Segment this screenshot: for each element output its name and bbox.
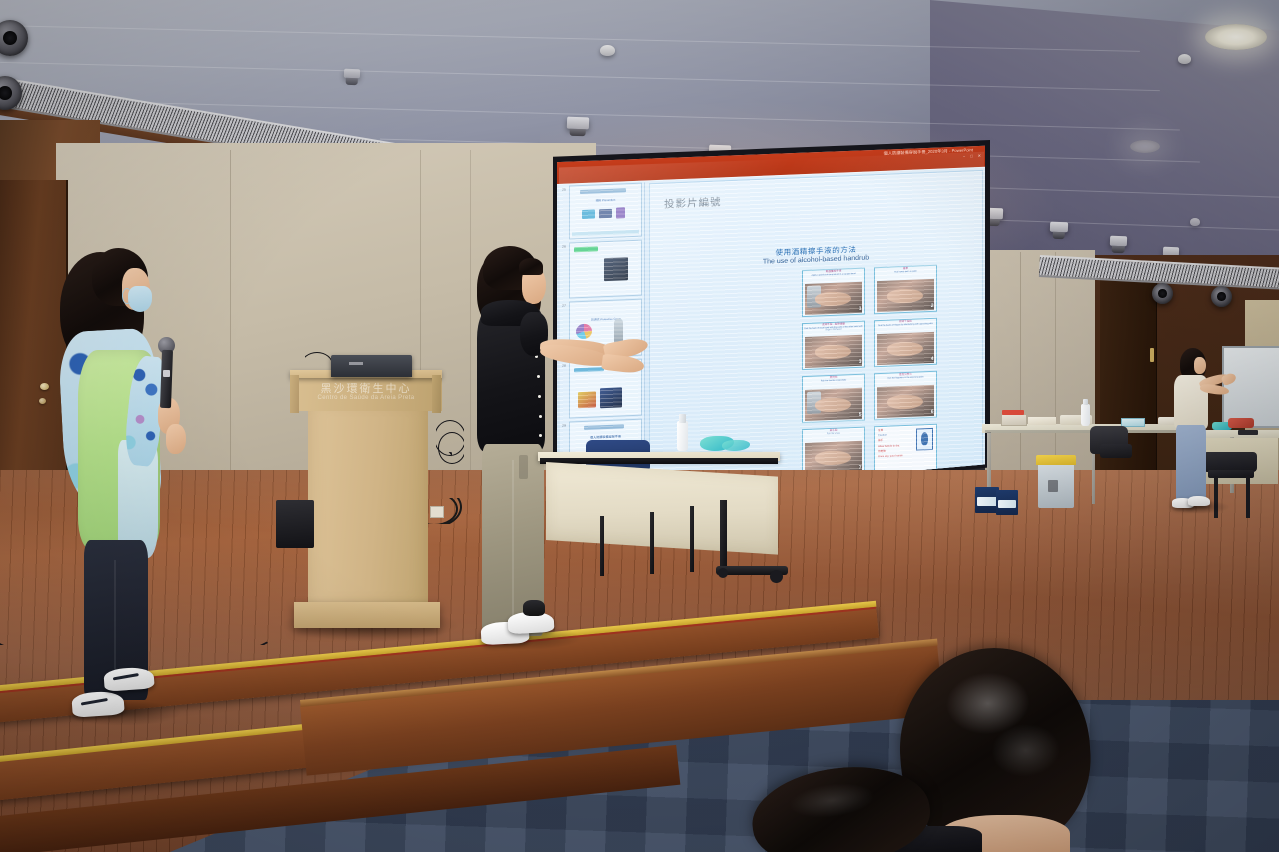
slide-number: 25 <box>562 188 566 192</box>
step-photo <box>805 387 862 420</box>
step-number: 3 <box>859 359 862 365</box>
microphone[interactable] <box>160 350 173 408</box>
folding-table-leg <box>650 512 654 574</box>
glove-box-lid <box>1002 410 1024 415</box>
presenter-left-hand-lower <box>166 424 186 454</box>
handrub-step: 搓指尖掌心 Rub the fingertips in the opposing… <box>874 371 937 421</box>
hand-sanitizer-bottle[interactable] <box>677 421 688 451</box>
thumb-caption: 預防 Prevention <box>570 197 641 204</box>
door-handle-icon[interactable] <box>40 383 49 390</box>
step-photo <box>877 278 934 311</box>
cardigan-button <box>539 434 542 437</box>
quick-access-toolbar[interactable] <box>561 144 612 155</box>
slide-number: 26 <box>562 245 566 249</box>
folding-table-leg <box>690 506 694 572</box>
close-icon[interactable]: ✕ <box>978 153 981 158</box>
step-number: 4 <box>931 356 934 362</box>
glove-box[interactable] <box>1001 414 1027 426</box>
smoke-detector-icon <box>1178 54 1191 64</box>
thumb-highlight <box>574 246 598 252</box>
handrub-step: 指背十指扣 Rub the backs of fingers by interl… <box>874 318 937 368</box>
step-photo <box>805 440 862 473</box>
chair-backrest[interactable] <box>1203 452 1257 472</box>
presenter-center-fringe <box>519 258 543 275</box>
podium-base <box>294 602 440 628</box>
slide-number-placeholder[interactable]: 投影片編號 <box>664 194 722 211</box>
wall-joint <box>1020 252 1021 492</box>
power-outlet[interactable] <box>430 506 444 518</box>
step-number: 2 <box>931 303 934 309</box>
step-photo <box>877 384 934 417</box>
presenter-left-shoe <box>103 666 154 691</box>
cardigan-button <box>539 415 542 418</box>
maximize-icon[interactable]: □ <box>970 153 972 158</box>
step-photo <box>877 331 934 364</box>
bottle-pump-icon[interactable] <box>679 414 686 423</box>
participant-right-shoe <box>1188 496 1210 506</box>
trouser-seam <box>512 460 514 628</box>
folding-table-caster <box>718 568 728 578</box>
hand-sanitizer-bottle[interactable] <box>1081 404 1090 426</box>
podium-side-rail <box>290 375 299 413</box>
ceiling-speaker <box>1211 286 1232 307</box>
door-lock-icon[interactable] <box>39 398 46 404</box>
step-number: 6 <box>931 409 934 415</box>
slide-canvas[interactable]: 投影片編號 使用酒精擦手液的方法 The use of alcohol-base… <box>649 170 983 485</box>
step-number: 1 <box>859 306 862 312</box>
thumb-image <box>604 257 628 281</box>
podium-body <box>308 398 428 610</box>
smoke-detector-icon <box>600 45 615 56</box>
microphone-label <box>163 370 170 377</box>
chevron-down-icon[interactable] <box>603 144 612 153</box>
ceiling-speaker <box>1152 283 1173 304</box>
step-row: 洗背手指 · 指隙搓動 Rub the back of each hand wi… <box>802 316 972 370</box>
thumb-image <box>578 391 596 408</box>
bottle-pump-icon[interactable] <box>1083 399 1088 405</box>
step-caption-en: Rub the back of each hand with the palm … <box>804 326 863 333</box>
participant-right-jeans <box>1176 425 1206 503</box>
thumb-image <box>616 207 625 218</box>
slide-number: 27 <box>562 304 566 308</box>
thumb-image <box>582 209 595 219</box>
podium-side-rail <box>432 375 441 413</box>
red-ppe-item[interactable] <box>1228 418 1254 428</box>
photograph-scene: 檔案 常用 插入 設計 切換 動畫 投影片放映 校閱 檢視 告訴我您想做什麼 個… <box>0 0 1279 852</box>
step-number: 5 <box>859 412 862 418</box>
handrub-caution-note: 注意 Caution 擦手 Allow hands to dry. 待乾後 On… <box>874 424 937 474</box>
thumb-logo <box>580 188 626 194</box>
whiteboard <box>1222 346 1279 428</box>
step-row: 搓拇指 Rub the thumbs rotationally 5 搓指尖掌心 … <box>802 369 972 423</box>
slide-number: 28 <box>562 364 566 368</box>
trouser-pocket <box>519 455 528 479</box>
presenter-left-shoe <box>71 690 125 718</box>
step-photo <box>805 281 862 314</box>
paper-box[interactable] <box>996 490 1018 515</box>
cardigan-button <box>537 375 540 378</box>
handrub-step: 搓手腕 Rub the wrists 7 <box>802 427 865 477</box>
ceiling-spotlight <box>1110 236 1127 247</box>
handrub-step: 取適量擦手液 Apply a palmful of the product in… <box>802 268 865 318</box>
podium-sign-chinese: 黑沙環衛生中心 <box>290 380 442 396</box>
step-row: 取適量擦手液 Apply a palmful of the product in… <box>802 263 972 317</box>
thumb-logo <box>584 424 624 430</box>
podium-cable <box>305 350 331 366</box>
ceiling-spotlight <box>344 69 360 79</box>
podium-front-panel: 黑沙環衛生中心 Centro de Saúde da Areia Preta <box>290 375 442 411</box>
participant-right-face <box>1194 357 1206 374</box>
undo-icon[interactable] <box>575 145 584 154</box>
chair-leg <box>1246 476 1250 518</box>
thumb-image <box>599 209 612 219</box>
laptop-logo <box>349 362 363 365</box>
marker-pen[interactable] <box>1238 430 1258 435</box>
slide-number: 29 <box>562 424 566 428</box>
podium-cable-coil <box>436 412 464 472</box>
save-icon[interactable] <box>561 145 570 154</box>
mask-ear-loop <box>122 288 132 304</box>
folding-table-caster <box>770 570 783 583</box>
minimize-icon[interactable]: − <box>963 154 965 159</box>
equipment-case <box>276 500 314 548</box>
door-handle-icon[interactable] <box>1150 348 1154 362</box>
thumb-band <box>572 230 639 237</box>
waste-bin-lid[interactable] <box>1036 455 1076 465</box>
thumb-band <box>574 367 604 372</box>
window-controls[interactable]: − □ ✕ <box>963 153 981 159</box>
slide-thumbnail[interactable]: 26 <box>569 240 642 299</box>
thumb-graphic <box>576 324 592 340</box>
handrub-pictogram-icon <box>916 428 933 451</box>
supply-table-rail <box>985 430 1193 433</box>
waste-bin-label <box>1048 480 1058 492</box>
folding-table-leg <box>720 500 727 572</box>
podium-sign-portuguese: Centro de Saúde da Areia Preta <box>290 395 442 401</box>
handrub-step: 搓掌 Rub hands palm to palm 2 <box>874 265 937 315</box>
dark-shoe <box>523 600 545 616</box>
folded-gown[interactable] <box>1028 417 1056 425</box>
note-line-en: Once dry, your hands <box>876 452 935 460</box>
slide-thumbnail[interactable]: 25 預防 Prevention <box>569 183 642 240</box>
handrub-step-grid: 取適量擦手液 Apply a palmful of the product in… <box>802 263 972 482</box>
handrub-step: 洗背手指 · 指隙搓動 Rub the back of each hand wi… <box>802 321 865 371</box>
handrub-step: 搓拇指 Rub the thumbs rotationally 5 <box>802 374 865 424</box>
ceiling-downlight <box>1205 24 1267 50</box>
laptop[interactable] <box>331 355 412 377</box>
chair-backrest[interactable] <box>1100 444 1132 458</box>
folding-table-leg <box>600 516 604 576</box>
ceiling-downlight <box>1130 140 1160 153</box>
step-photo <box>805 334 862 367</box>
smoke-detector-icon <box>1190 218 1200 226</box>
redo-icon[interactable] <box>589 144 598 153</box>
folding-table-apron <box>546 462 778 555</box>
thumb-image <box>600 387 622 408</box>
cardigan-button <box>538 395 541 398</box>
